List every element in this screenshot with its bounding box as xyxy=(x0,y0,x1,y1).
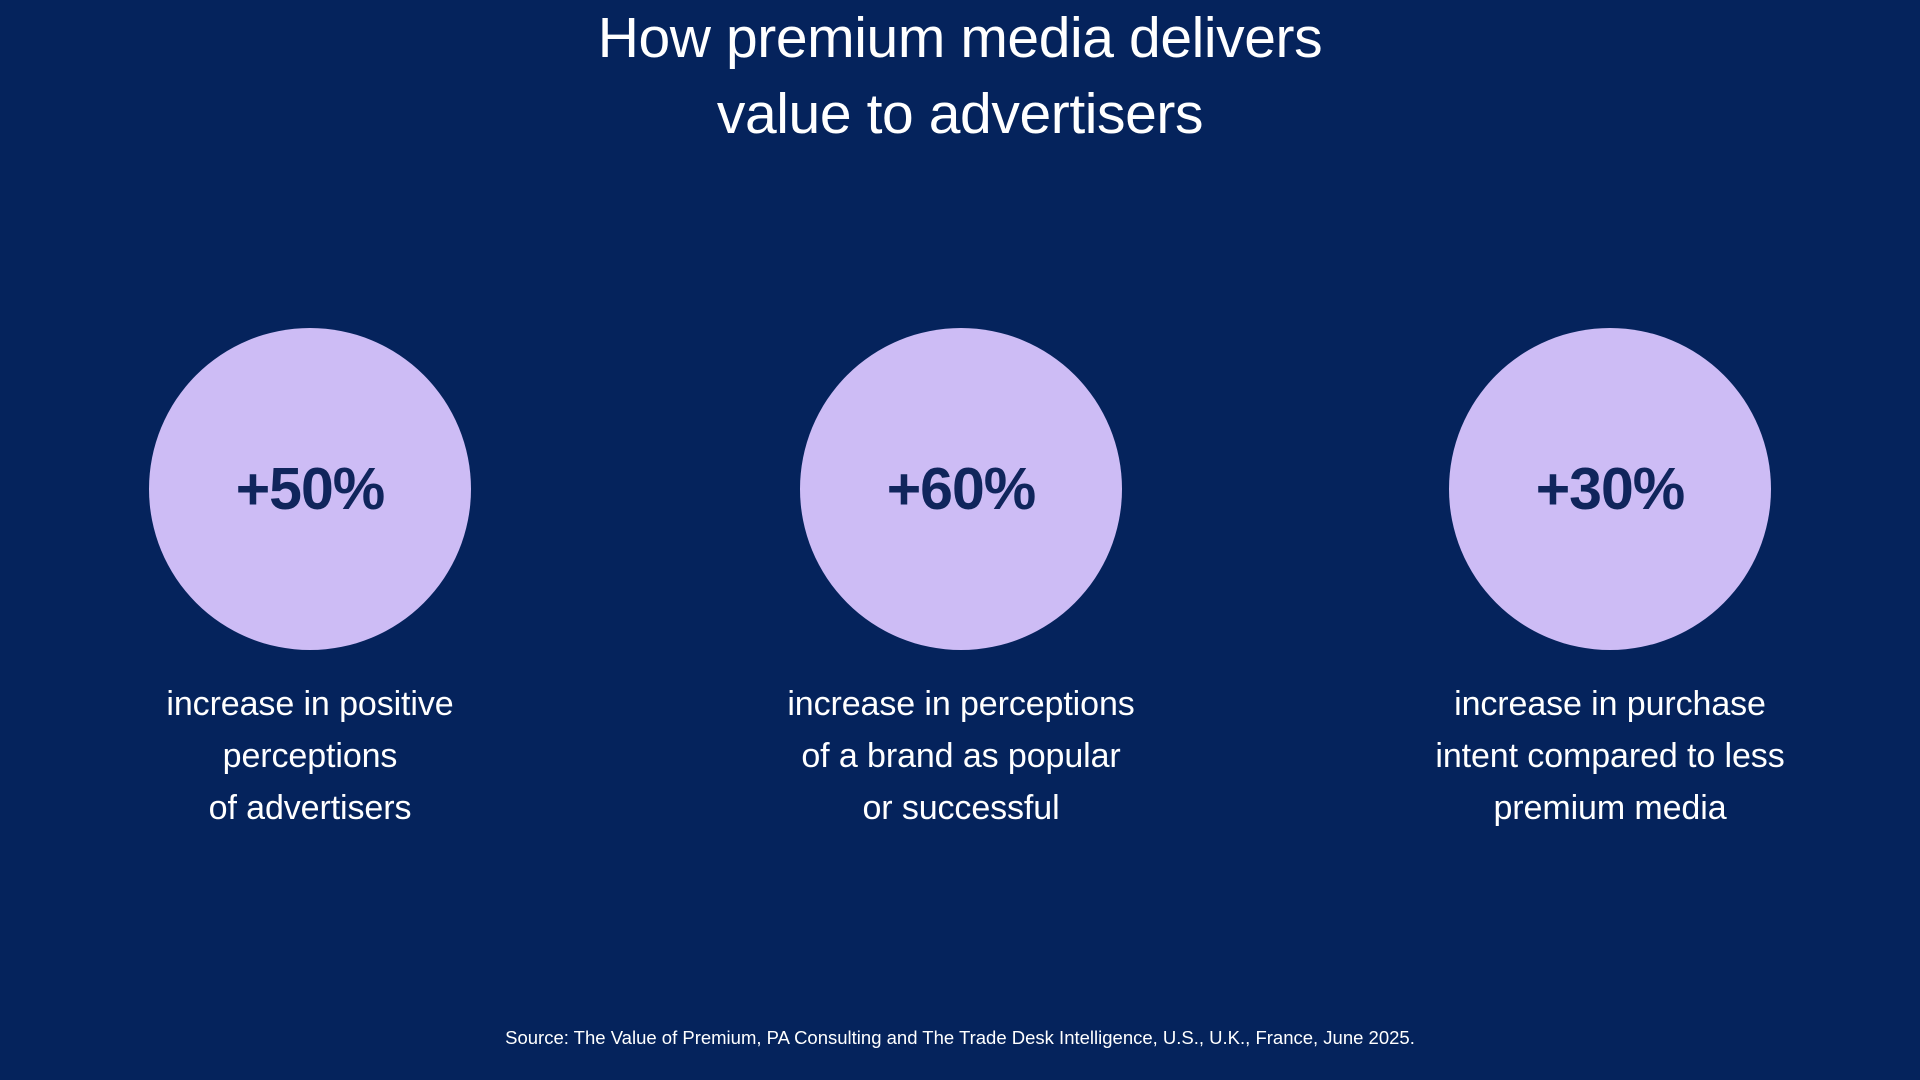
stat-circle-2: +60% xyxy=(800,328,1122,650)
infographic-slide: How premium media delivers value to adve… xyxy=(0,0,1920,1080)
stat-item-1: +50% increase in positive perceptions of… xyxy=(0,328,630,834)
stat-caption-1-line-2: perceptions xyxy=(0,730,620,782)
stat-caption-3-line-3: premium media xyxy=(1300,782,1920,834)
stats-row: +50% increase in positive perceptions of… xyxy=(0,328,1920,888)
stat-caption-3-line-1: increase in purchase xyxy=(1300,678,1920,730)
stat-caption-2: increase in perceptions of a brand as po… xyxy=(651,678,1271,834)
stat-item-3: +30% increase in purchase intent compare… xyxy=(1290,328,1920,834)
stat-caption-1: increase in positive perceptions of adve… xyxy=(0,678,620,834)
stat-circle-1: +50% xyxy=(149,328,471,650)
source-note: Source: The Value of Premium, PA Consult… xyxy=(0,1025,1920,1051)
stat-caption-1-line-1: increase in positive xyxy=(0,678,620,730)
stat-caption-2-line-2: of a brand as popular xyxy=(651,730,1271,782)
title-line-2: value to advertisers xyxy=(0,76,1920,152)
stat-value-1: +50% xyxy=(236,460,385,519)
stat-value-3: +30% xyxy=(1536,460,1685,519)
title-line-1: How premium media delivers xyxy=(0,0,1920,76)
stat-item-2: +60% increase in perceptions of a brand … xyxy=(641,328,1281,834)
stat-caption-2-line-3: or successful xyxy=(651,782,1271,834)
page-title: How premium media delivers value to adve… xyxy=(0,0,1920,152)
stat-caption-1-line-3: of advertisers xyxy=(0,782,620,834)
stat-caption-3-line-2: intent compared to less xyxy=(1300,730,1920,782)
stat-circle-3: +30% xyxy=(1449,328,1771,650)
stat-caption-3: increase in purchase intent compared to … xyxy=(1300,678,1920,834)
stat-value-2: +60% xyxy=(887,460,1036,519)
stat-caption-2-line-1: increase in perceptions xyxy=(651,678,1271,730)
